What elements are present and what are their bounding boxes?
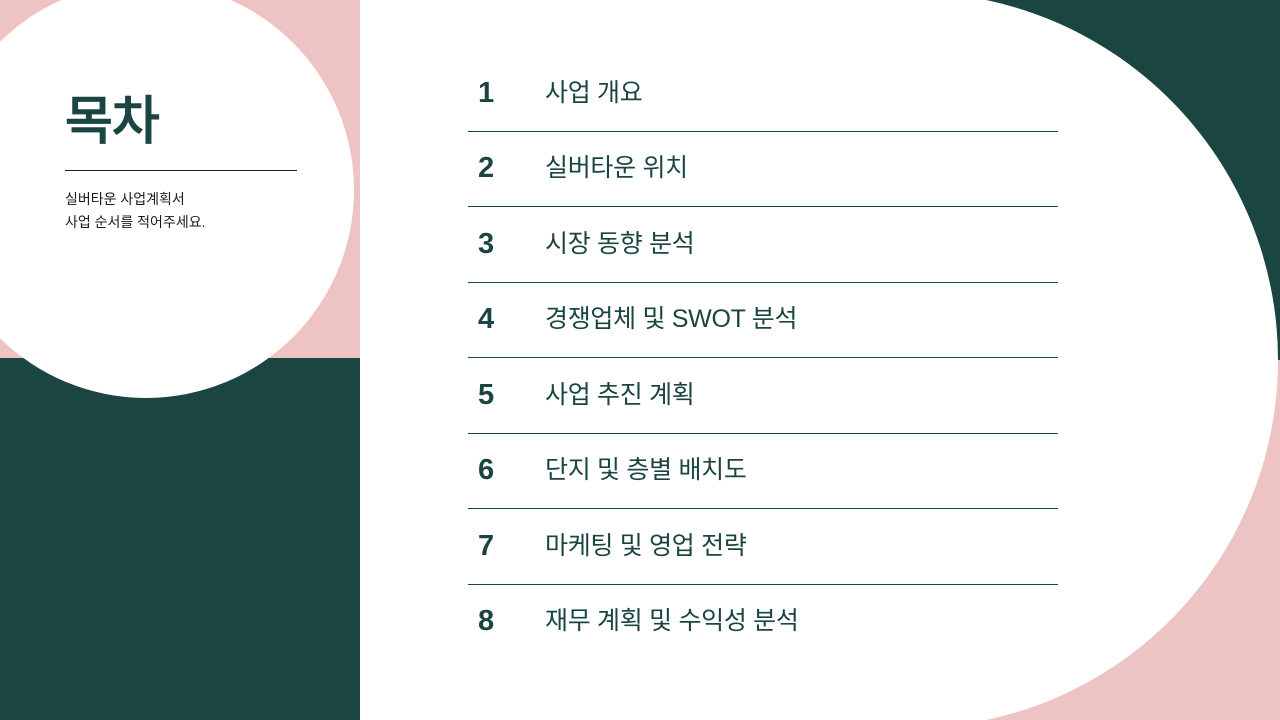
toc-item-label: 마케팅 및 영업 전략	[545, 534, 747, 559]
toc-item-label: 경쟁업체 및 SWOT 분석	[545, 307, 797, 332]
slide-subtitle: 실버타운 사업계획서 사업 순서를 적어주세요.	[65, 188, 305, 234]
presentation-slide: 목차 실버타운 사업계획서 사업 순서를 적어주세요. 1 사업 개요 2 실버…	[0, 0, 1280, 720]
toc-item-number: 8	[468, 607, 545, 636]
toc-item-label: 재무 계획 및 수익성 분석	[545, 609, 799, 634]
toc-item-number: 7	[468, 532, 545, 561]
toc-item[interactable]: 8 재무 계획 및 수익성 분석	[468, 585, 1058, 660]
toc-item[interactable]: 6 단지 및 층별 배치도	[468, 434, 1058, 510]
toc-item-number: 4	[468, 305, 545, 334]
toc-item-number: 3	[468, 230, 545, 259]
subtitle-line-1: 실버타운 사업계획서	[65, 188, 305, 211]
toc-item[interactable]: 1 사업 개요	[468, 56, 1058, 132]
toc-item-number: 2	[468, 154, 545, 183]
toc-item-label: 사업 개요	[545, 81, 642, 106]
toc-item[interactable]: 2 실버타운 위치	[468, 132, 1058, 208]
toc-item[interactable]: 5 사업 추진 계획	[468, 358, 1058, 434]
toc-item-number: 1	[468, 79, 545, 108]
title-block: 목차 실버타운 사업계획서 사업 순서를 적어주세요.	[65, 95, 305, 234]
toc-item-label: 실버타운 위치	[545, 156, 688, 181]
toc-item-number: 6	[468, 456, 545, 485]
toc-item-label: 단지 및 층별 배치도	[545, 458, 747, 483]
table-of-contents: 1 사업 개요 2 실버타운 위치 3 시장 동향 분석 4 경쟁업체 및 SW…	[468, 56, 1058, 659]
toc-item[interactable]: 3 시장 동향 분석	[468, 207, 1058, 283]
left-panel-green-band	[0, 358, 360, 720]
toc-item-number: 5	[468, 381, 545, 410]
toc-item-label: 사업 추진 계획	[545, 383, 695, 408]
page-title: 목차	[65, 95, 305, 150]
subtitle-line-2: 사업 순서를 적어주세요.	[65, 211, 305, 234]
toc-item-label: 시장 동향 분석	[545, 232, 695, 257]
toc-item[interactable]: 7 마케팅 및 영업 전략	[468, 509, 1058, 585]
title-divider	[65, 170, 297, 171]
toc-item[interactable]: 4 경쟁업체 및 SWOT 분석	[468, 283, 1058, 359]
